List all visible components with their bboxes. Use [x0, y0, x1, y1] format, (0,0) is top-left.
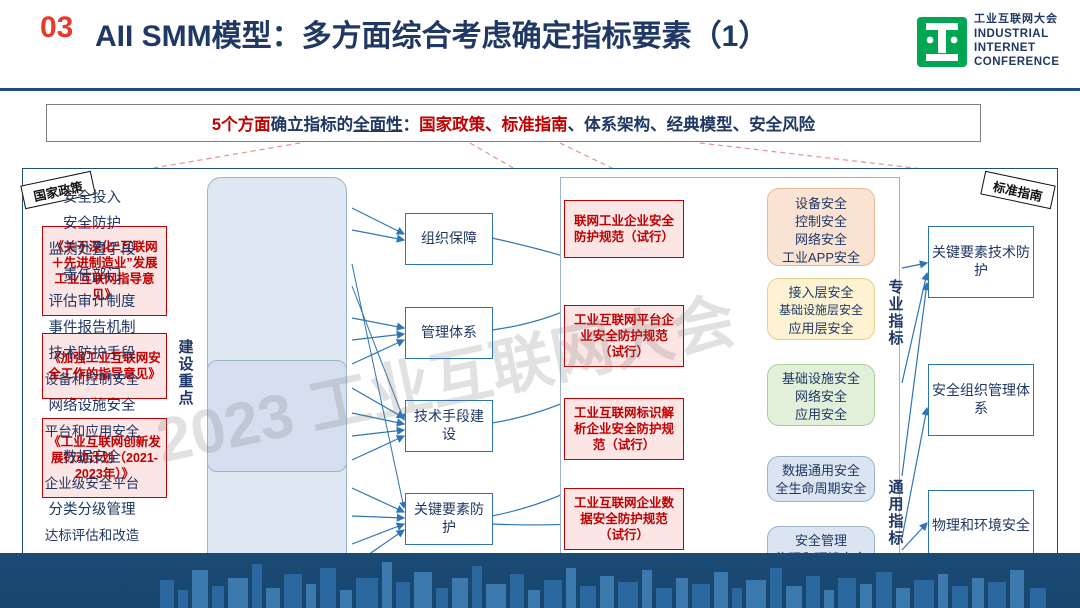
list-item: 达标评估和改造: [22, 524, 162, 544]
list-item: 安全防护: [22, 212, 162, 233]
standard-doc-2-label: 工业互联网平台企业安全防护规范（试行）: [568, 312, 680, 360]
standard-group-2-line-2: 基础设施层安全: [768, 302, 874, 318]
list-item-label: 平台和应用安全: [45, 424, 140, 439]
standard-group-3: 基础设施安全 网络安全 应用安全: [767, 364, 875, 426]
outcome-box-1-label: 关键要素技术防护: [932, 244, 1030, 280]
outcome-box-2: 安全组织管理体系: [928, 364, 1034, 436]
result-box-3: 技术手段建设: [405, 400, 493, 452]
outcome-box-3: 物理和环境安全: [928, 490, 1034, 562]
list-item-label: 技术防护手段: [49, 346, 136, 362]
list-item-label: 事件报告机制: [49, 320, 136, 336]
standard-group-1-line-1: 设备安全: [768, 195, 874, 213]
logo-text-en-3: CONFERENCE: [974, 55, 1060, 69]
logo-text: 工业互联网大会 INDUSTRIAL INTERNET CONFERENCE: [974, 13, 1060, 69]
conference-logo: 工业互联网大会 INDUSTRIAL INTERNET CONFERENCE: [916, 12, 1066, 74]
result-box-3-label: 技术手段建设: [408, 408, 490, 444]
list-item: 网络设施安全: [22, 394, 162, 415]
standard-group-2: 接入层安全 基础设施层安全 应用层安全: [767, 278, 875, 340]
result-box-4-label: 关键要素防护: [408, 501, 490, 537]
list-item: 责任部门: [22, 264, 162, 285]
outcome-box-2-label: 安全组织管理体系: [932, 382, 1030, 418]
standard-group-4: 数据通用安全 全生命周期安全: [767, 456, 875, 502]
result-box-1-label: 组织保障: [421, 230, 477, 248]
standard-group-4-line-2: 全生命周期安全: [768, 480, 874, 498]
standard-group-4-line-1: 数据通用安全: [768, 462, 874, 480]
vlabel-professional-indicator-label: 专业指标: [885, 279, 906, 347]
diagram-canvas: 国家政策 标准指南 《关于深化“互联网＋先进制造业”发展工业互联网指导意见》 《…: [22, 168, 1058, 584]
vlabel-general-indicator: 通用指标: [884, 468, 906, 558]
list-item-label: 数据安全: [63, 450, 121, 466]
subtitle-part-6: 、体系架构、经典模型、安全风险: [568, 111, 816, 135]
subtitle-part-4: ：: [403, 111, 420, 135]
subtitle-part-2: 确立指标的: [271, 111, 354, 135]
logo-text-en-2: INTERNET: [974, 41, 1060, 55]
list-item: 监测处置手段: [22, 238, 162, 259]
standard-doc-4-label: 工业互联网企业数据安全防护规范（试行）: [568, 495, 680, 543]
standard-doc-1-label: 联网工业企业安全防护规范（试行）: [568, 213, 680, 245]
standard-group-1-line-3: 网络安全: [768, 231, 874, 249]
list-item-label: 分类分级管理: [49, 502, 136, 518]
vlabel-general-indicator-label: 通用指标: [885, 479, 906, 547]
list-item-label: 设备和控制安全: [45, 372, 140, 387]
standard-group-3-line-1: 基础设施安全: [768, 370, 874, 388]
logo-text-en-1: INDUSTRIAL: [974, 27, 1060, 41]
list-item-label: 安全投入: [63, 190, 121, 206]
subtitle-banner: 5个方面 确立指标的 全面性 ： 国家政策、标准指南 、体系架构、经典模型、安全…: [46, 104, 981, 142]
result-box-1: 组织保障: [405, 213, 493, 265]
standard-group-3-line-2: 网络安全: [768, 388, 874, 406]
standard-doc-1: 联网工业企业安全防护规范（试行）: [564, 200, 684, 258]
list-item: 分类分级管理: [22, 498, 162, 519]
list-item: 设备和控制安全: [22, 368, 162, 388]
indicator-list-subgroup: [207, 360, 347, 472]
page-title: AII SMM模型：多方面综合考虑确定指标要素（1）: [95, 11, 768, 55]
standard-doc-2: 工业互联网平台企业安全防护规范（试行）: [564, 305, 684, 367]
standard-group-2-line-3: 应用层安全: [768, 320, 874, 338]
list-item: 平台和应用安全: [22, 420, 162, 440]
outcome-box-3-label: 物理和环境安全: [932, 517, 1030, 535]
vlabel-professional-indicator: 专业指标: [884, 268, 906, 358]
page-header: 03 AII SMM模型：多方面综合考虑确定指标要素（1） 工业互联网大会 IN…: [0, 0, 1080, 88]
standard-group-1-line-2: 控制安全: [768, 213, 874, 231]
list-item-label: 责任部门: [63, 268, 121, 284]
list-item-label: 安全防护: [63, 216, 121, 232]
list-item-label: 达标评估和改造: [45, 528, 140, 543]
standard-group-1-line-4: 工业APP安全: [768, 249, 874, 267]
standard-doc-4: 工业互联网企业数据安全防护规范（试行）: [564, 488, 684, 550]
standard-group-2-line-1: 接入层安全: [768, 284, 874, 302]
result-box-2-label: 管理体系: [421, 324, 477, 342]
subtitle-part-5: 国家政策、标准指南: [419, 111, 568, 135]
list-item: 数据安全: [22, 446, 162, 467]
list-item: 技术防护手段: [22, 342, 162, 363]
list-item-label: 评估审计制度: [49, 294, 136, 310]
header-divider: [0, 88, 1080, 91]
subtitle-part-3: 全面性: [353, 111, 403, 135]
bottom-decoration-band: AII 工业互联网: [0, 553, 1080, 608]
list-item-label: 企业级安全平台: [45, 476, 140, 491]
result-box-4: 关键要素防护: [405, 493, 493, 545]
result-box-2: 管理体系: [405, 307, 493, 359]
list-item: 事件报告机制: [22, 316, 162, 337]
standard-group-1: 设备安全 控制安全 网络安全 工业APP安全: [767, 188, 875, 266]
logo-mark-icon: [916, 16, 968, 68]
outcome-box-1: 关键要素技术防护: [928, 226, 1034, 298]
standard-group-3-line-3: 应用安全: [768, 406, 874, 424]
standard-group-5-line-1: 安全管理: [768, 532, 874, 550]
logo-text-cn: 工业互联网大会: [974, 13, 1060, 27]
subtitle-part-1: 5个方面: [212, 111, 271, 135]
list-item: 安全投入: [22, 186, 162, 207]
standard-doc-3: 工业互联网标识解析企业安全防护规范（试行）: [564, 398, 684, 460]
list-item: 评估审计制度: [22, 290, 162, 311]
standard-doc-3-label: 工业互联网标识解析企业安全防护规范（试行）: [568, 405, 680, 453]
page-title-number: 03: [40, 11, 73, 45]
vlabel-construction-focus: 建设重点: [172, 308, 198, 438]
vlabel-construction-focus-label: 建设重点: [175, 339, 196, 407]
list-item-label: 网络设施安全: [49, 398, 136, 414]
list-item-label: 监测处置手段: [49, 242, 136, 258]
list-item: 企业级安全平台: [22, 472, 162, 492]
